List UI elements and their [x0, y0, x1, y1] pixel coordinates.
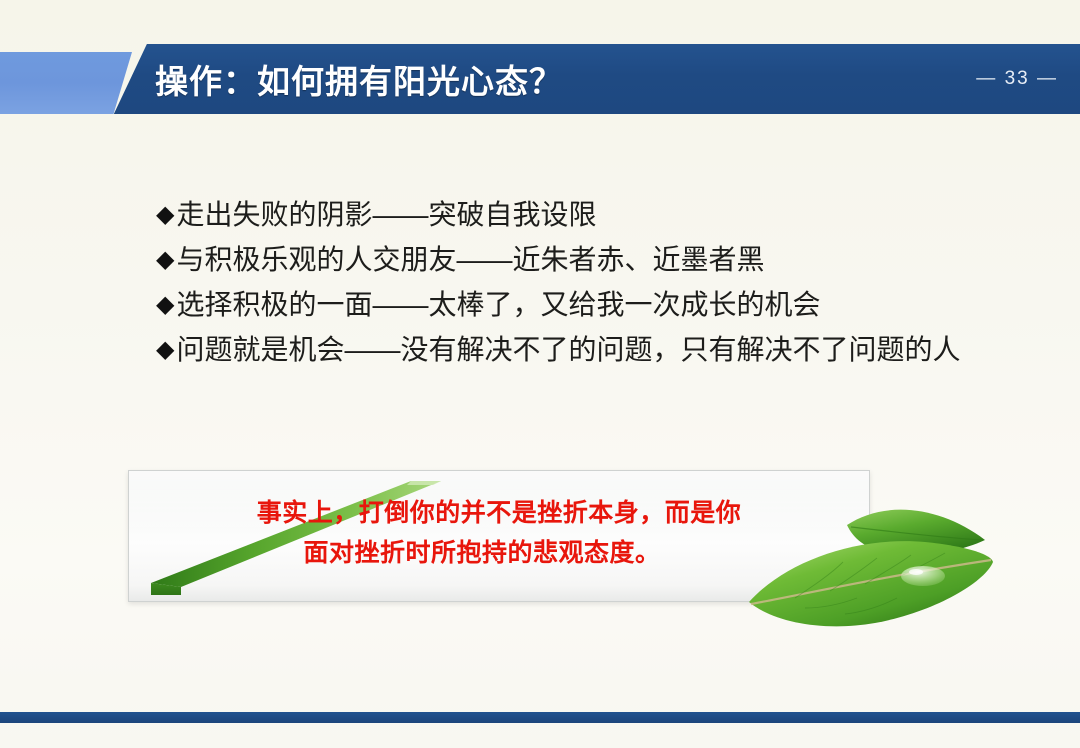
page-title: 操作：如何拥有阳光心态？	[155, 44, 563, 114]
diamond-bullet-icon: ◆	[156, 327, 174, 372]
bullet-list: ◆ 走出失败的阴影——突破自我设限 ◆ 与积极乐观的人交朋友——近朱者赤、近墨者…	[156, 192, 1036, 372]
list-item: ◆ 与积极乐观的人交朋友——近朱者赤、近墨者黑	[156, 237, 1036, 282]
list-item-label: 选择积极的一面——太棒了，又给我一次成长的机会	[176, 282, 820, 327]
quote-callout-box: 事实上，打倒你的并不是挫折本身，而是你 面对挫折时所抱持的悲观态度。	[128, 470, 870, 602]
diamond-bullet-icon: ◆	[156, 282, 174, 327]
slide-canvas: 操作：如何拥有阳光心态？ — 33 — ◆ 走出失败的阴影——突破自我设限 ◆ …	[0, 0, 1080, 748]
quote-line-2: 面对挫折时所抱持的悲观态度。	[128, 533, 869, 573]
footer-bar	[0, 712, 1080, 723]
list-item: ◆ 走出失败的阴影——突破自我设限	[156, 192, 1036, 237]
list-item-label: 与积极乐观的人交朋友——近朱者赤、近墨者黑	[176, 237, 764, 282]
page-number: — 33 —	[976, 44, 1058, 114]
list-item-label: 问题就是机会——没有解决不了的问题，只有解决不了问题的人	[176, 327, 960, 372]
list-item-label: 走出失败的阴影——突破自我设限	[176, 192, 596, 237]
header-accent-tab	[0, 52, 132, 114]
slide-header: 操作：如何拥有阳光心态？ — 33 —	[0, 44, 1080, 114]
diamond-bullet-icon: ◆	[156, 237, 174, 282]
quote-text: 事实上，打倒你的并不是挫折本身，而是你 面对挫折时所抱持的悲观态度。	[129, 493, 869, 573]
quote-line-1: 事实上，打倒你的并不是挫折本身，而是你	[129, 493, 869, 533]
diamond-bullet-icon: ◆	[156, 192, 174, 237]
list-item: ◆ 问题就是机会——没有解决不了的问题，只有解决不了问题的人	[156, 327, 1036, 372]
water-droplet-icon	[901, 566, 945, 586]
list-item: ◆ 选择积极的一面——太棒了，又给我一次成长的机会	[156, 282, 1036, 327]
